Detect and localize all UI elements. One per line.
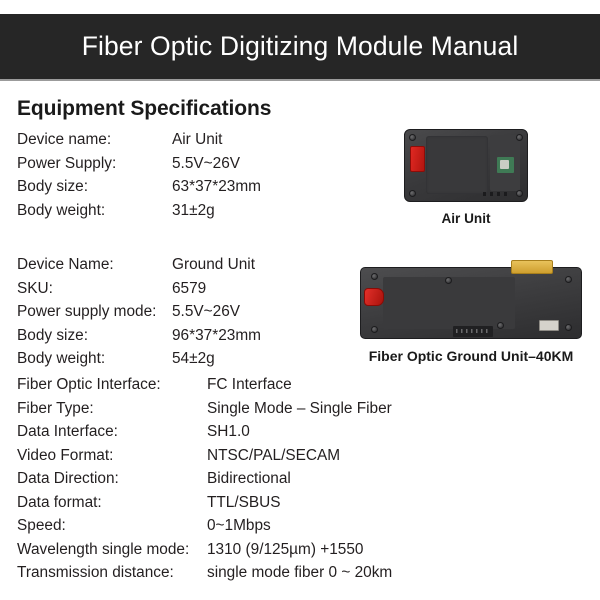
spec-ground-row: SKU:6579 — [17, 280, 261, 304]
screw-icon — [371, 326, 378, 333]
spec-fiber-value: Bidirectional — [207, 470, 291, 488]
spec-fiber-row: Wavelength single mode:1310 (9/125µm) +1… — [17, 541, 392, 565]
screw-icon — [371, 273, 378, 280]
ground-unit-data-port — [453, 326, 493, 337]
figure-caption-ground-unit: Fiber Optic Ground Unit–40KM — [352, 348, 590, 364]
spec-air-row: Body weight:31±2g — [17, 202, 261, 226]
spec-fiber-label: Speed: — [17, 517, 207, 535]
screw-icon — [497, 322, 504, 329]
spec-ground-value: 54±2g — [172, 350, 215, 368]
spec-air-row: Device name:Air Unit — [17, 131, 261, 155]
spec-block-air-unit: Device name:Air UnitPower Supply:5.5V~26… — [17, 131, 261, 225]
air-unit-solder-pads — [483, 192, 509, 196]
screw-icon — [565, 276, 572, 283]
spec-air-label: Device name: — [17, 131, 172, 149]
ground-unit-white-port — [539, 320, 559, 331]
spec-air-label: Body weight: — [17, 202, 172, 220]
spec-air-value: 5.5V~26V — [172, 155, 240, 173]
header-divider — [0, 79, 600, 81]
spec-fiber-value: FC Interface — [207, 376, 292, 394]
header-banner: Fiber Optic Digitizing Module Manual — [0, 14, 600, 79]
spec-fiber-row: Fiber Optic Interface:FC Interface — [17, 376, 392, 400]
figure-air-unit: Air Unit — [396, 129, 536, 226]
spec-ground-row: Device Name:Ground Unit — [17, 256, 261, 280]
spec-air-row: Power Supply:5.5V~26V — [17, 155, 261, 179]
spec-fiber-value: 1310 (9/125µm) +1550 — [207, 541, 363, 559]
air-unit-device-image — [404, 129, 528, 202]
ground-unit-mid-plate — [383, 277, 515, 329]
spec-air-value: 63*37*23mm — [172, 178, 261, 196]
spec-ground-row: Body size:96*37*23mm — [17, 327, 261, 351]
spec-fiber-row: Data format:TTL/SBUS — [17, 494, 392, 518]
spec-air-row: Body size:63*37*23mm — [17, 178, 261, 202]
spec-ground-label: Body weight: — [17, 350, 172, 368]
spec-fiber-row: Video Format:NTSC/PAL/SECAM — [17, 447, 392, 471]
spec-fiber-row: Data Direction:Bidirectional — [17, 470, 392, 494]
screw-icon — [516, 134, 523, 141]
spec-ground-value: Ground Unit — [172, 256, 255, 274]
figure-ground-unit: Fiber Optic Ground Unit–40KM — [352, 256, 590, 364]
spec-fiber-label: Transmission distance: — [17, 564, 207, 582]
screw-icon — [445, 277, 452, 284]
spec-fiber-label: Wavelength single mode: — [17, 541, 207, 559]
spec-fiber-label: Data Direction: — [17, 470, 207, 488]
spec-ground-value: 5.5V~26V — [172, 303, 240, 321]
ground-unit-device-image — [360, 267, 582, 339]
page-title: Fiber Optic Digitizing Module Manual — [82, 31, 519, 62]
spec-fiber-label: Fiber Optic Interface: — [17, 376, 207, 394]
spec-fiber-label: Video Format: — [17, 447, 207, 465]
spec-ground-label: Device Name: — [17, 256, 172, 274]
spec-ground-label: SKU: — [17, 280, 172, 298]
spec-fiber-label: Data format: — [17, 494, 207, 512]
yellow-xt-connector-icon — [511, 260, 553, 274]
spec-air-value: Air Unit — [172, 131, 222, 149]
spec-fiber-value: single mode fiber 0 ~ 20km — [207, 564, 392, 582]
spec-fiber-value: NTSC/PAL/SECAM — [207, 447, 340, 465]
air-unit-inner-plate — [426, 136, 488, 194]
spec-block-ground-unit: Device Name:Ground UnitSKU:6579Power sup… — [17, 256, 261, 374]
spec-fiber-row: Fiber Type:Single Mode – Single Fiber — [17, 400, 392, 424]
screw-icon — [409, 134, 416, 141]
spec-fiber-label: Fiber Type: — [17, 400, 207, 418]
figure-caption-air-unit: Air Unit — [396, 211, 536, 226]
red-connector-icon — [410, 146, 425, 172]
screw-icon — [409, 190, 416, 197]
spec-block-fiber-interface: Fiber Optic Interface:FC InterfaceFiber … — [17, 376, 392, 588]
spec-ground-row: Power supply mode:5.5V~26V — [17, 303, 261, 327]
spec-fiber-row: Data Interface:SH1.0 — [17, 423, 392, 447]
spec-fiber-value: 0~1Mbps — [207, 517, 271, 535]
spec-fiber-value: TTL/SBUS — [207, 494, 281, 512]
spec-ground-label: Body size: — [17, 327, 172, 345]
screw-icon — [565, 324, 572, 331]
green-pcb-module-icon — [497, 157, 514, 173]
section-title: Equipment Specifications — [17, 97, 271, 121]
spec-ground-value: 96*37*23mm — [172, 327, 261, 345]
spec-ground-value: 6579 — [172, 280, 206, 298]
spec-ground-row: Body weight:54±2g — [17, 350, 261, 374]
spec-air-label: Body size: — [17, 178, 172, 196]
spec-air-value: 31±2g — [172, 202, 215, 220]
spec-air-label: Power Supply: — [17, 155, 172, 173]
screw-icon — [516, 190, 523, 197]
spec-ground-label: Power supply mode: — [17, 303, 172, 321]
spec-fiber-value: SH1.0 — [207, 423, 250, 441]
spec-fiber-row: Speed:0~1Mbps — [17, 517, 392, 541]
spec-fiber-row: Transmission distance:single mode fiber … — [17, 564, 392, 588]
manual-page: Fiber Optic Digitizing Module Manual Equ… — [0, 0, 600, 600]
red-fc-connector-icon — [364, 288, 384, 306]
spec-fiber-label: Data Interface: — [17, 423, 207, 441]
spec-fiber-value: Single Mode – Single Fiber — [207, 400, 392, 418]
